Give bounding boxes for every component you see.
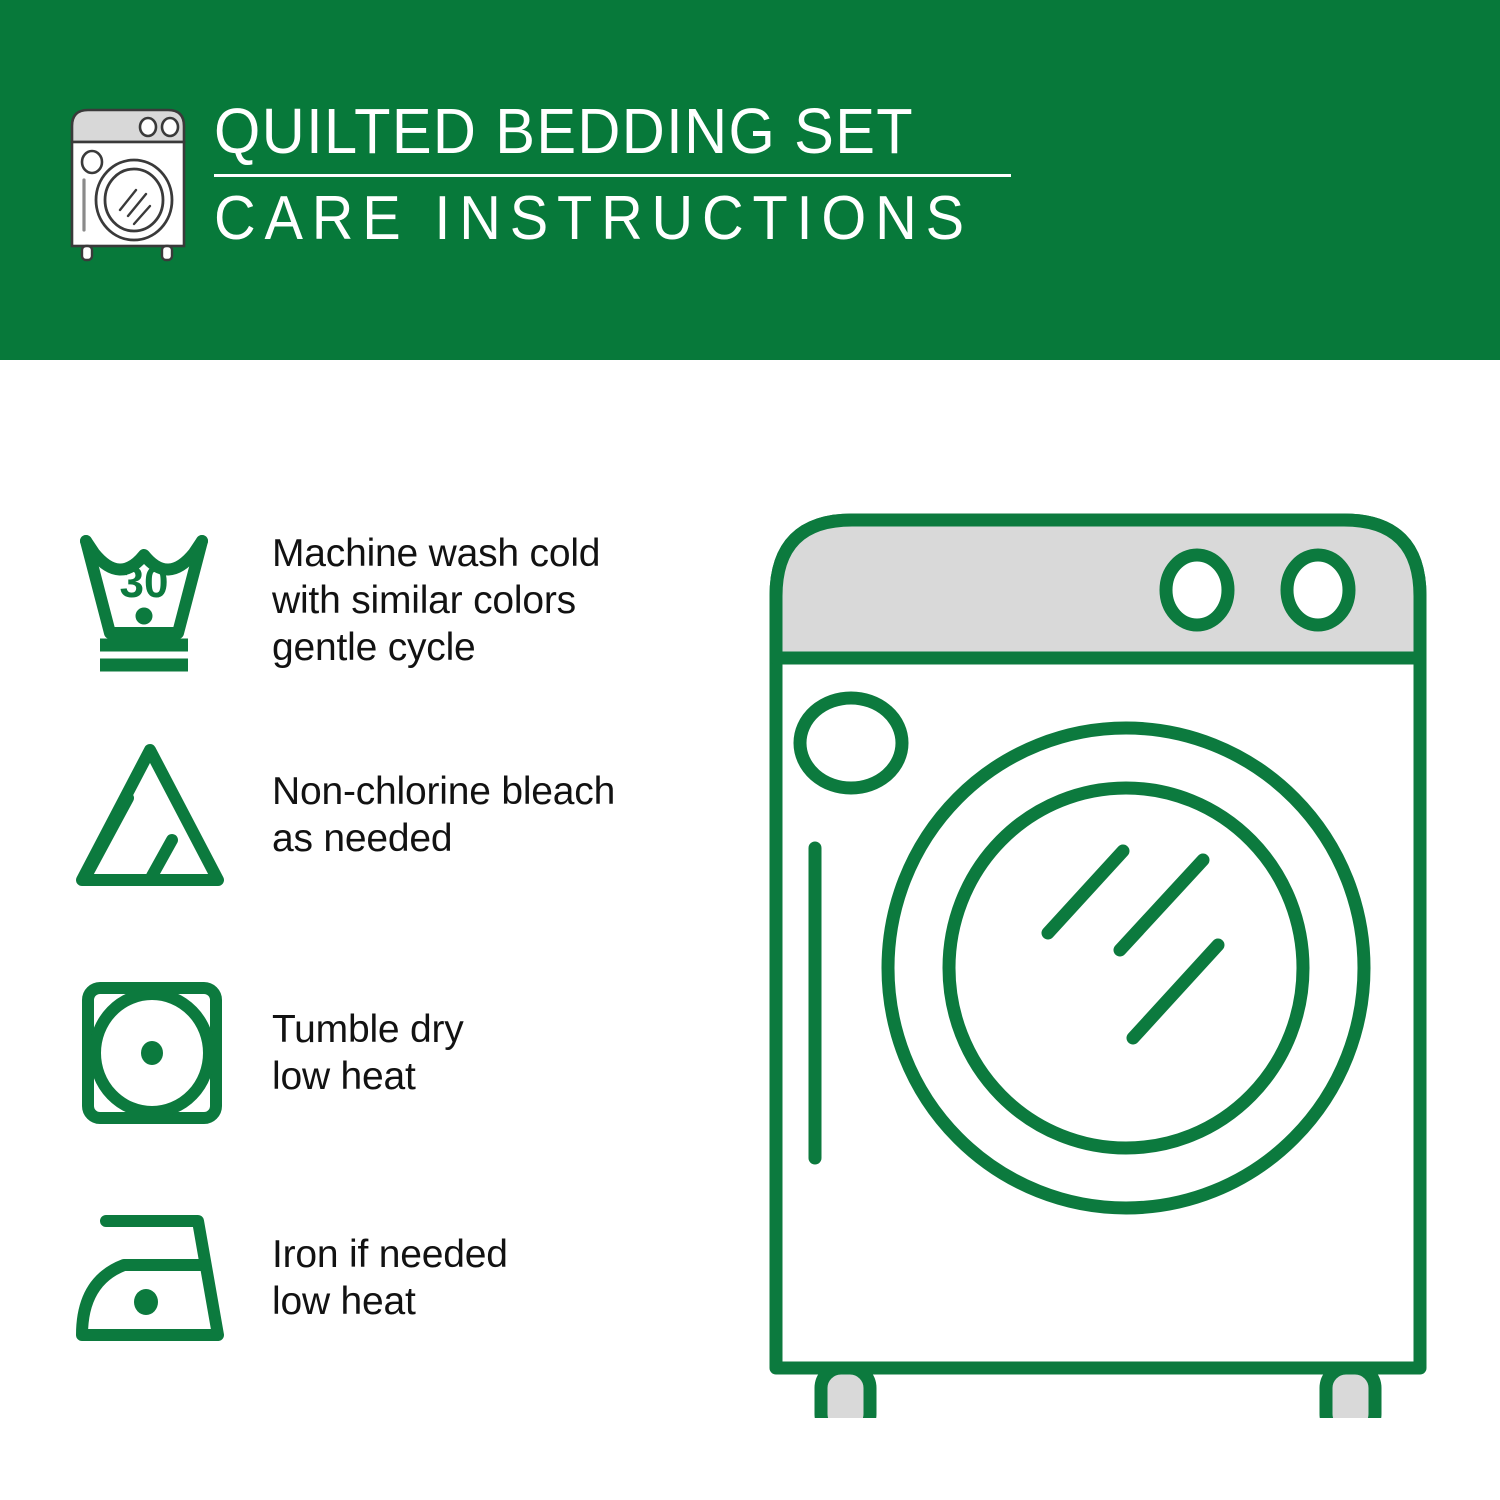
title-divider xyxy=(214,174,1011,177)
care-instructions-page: QUILTED BEDDING SET CARE INSTRUCTIONS xyxy=(0,0,1500,1500)
care-instruction-list: 30 Machine wash cold with similar colors… xyxy=(0,360,740,1500)
page-subtitle: CARE INSTRUCTIONS xyxy=(214,186,977,252)
page-title: QUILTED BEDDING SET xyxy=(214,96,977,166)
care-item-iron: Iron if needed low heat xyxy=(72,1198,712,1358)
iron-low-heat-icon xyxy=(72,1203,244,1353)
care-item-label: Tumble dry low heat xyxy=(272,1006,712,1100)
washing-machine-illustration xyxy=(748,498,1448,1418)
header-text-block: QUILTED BEDDING SET CARE INSTRUCTIONS xyxy=(214,96,1034,252)
wash-tub-30-icon: 30 xyxy=(72,525,244,675)
wash-temperature-value: 30 xyxy=(120,558,169,607)
care-item-label: Machine wash cold with similar colors ge… xyxy=(272,530,712,671)
care-item-tumble-dry: Tumble dry low heat xyxy=(72,973,712,1133)
non-chlorine-bleach-triangle-icon xyxy=(72,740,244,890)
care-item-bleach: Non-chlorine bleach as needed xyxy=(72,735,712,895)
washing-machine-logo-icon xyxy=(62,104,194,264)
tumble-dry-low-icon xyxy=(72,978,244,1128)
care-item-label: Iron if needed low heat xyxy=(272,1231,712,1325)
care-item-wash: 30 Machine wash cold with similar colors… xyxy=(72,520,712,680)
header-band: QUILTED BEDDING SET CARE INSTRUCTIONS xyxy=(0,0,1500,360)
care-item-label: Non-chlorine bleach as needed xyxy=(272,768,712,862)
